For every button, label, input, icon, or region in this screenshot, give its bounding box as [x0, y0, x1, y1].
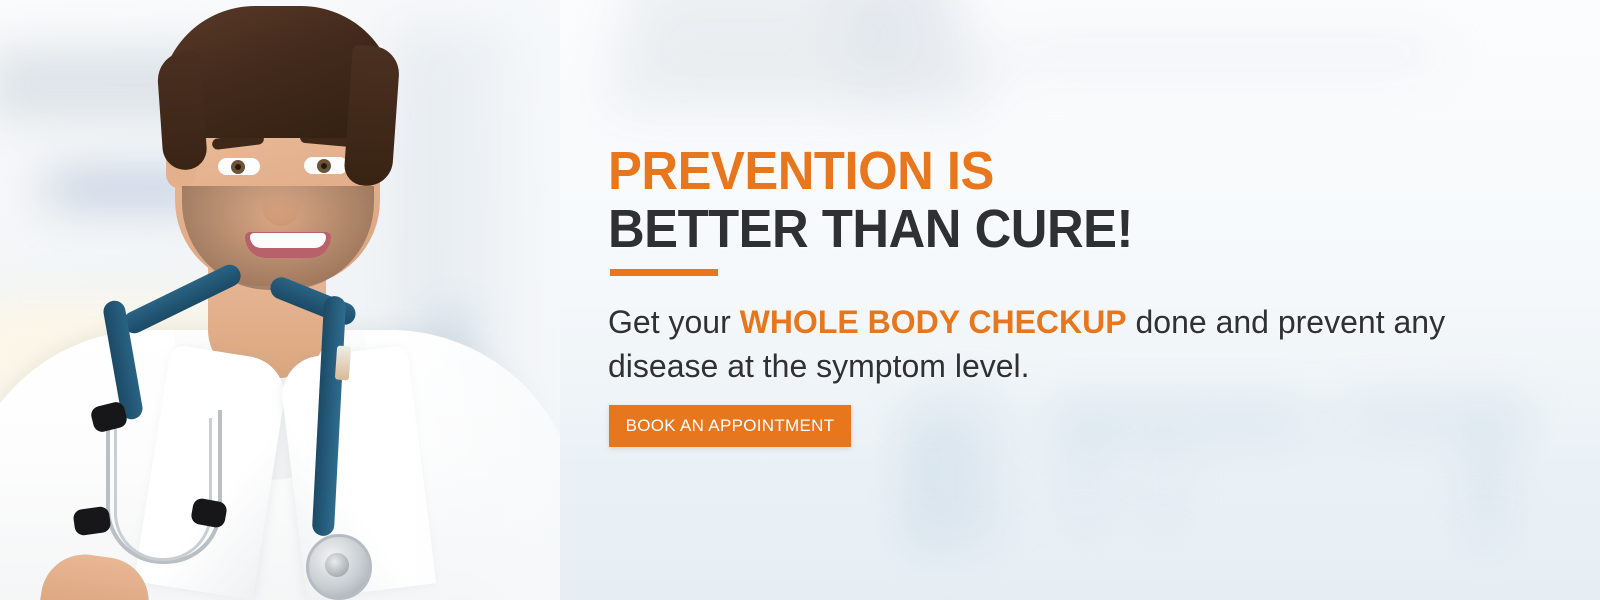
stethoscope-tube-left-upper: [120, 261, 245, 337]
doctor-photo: [0, 0, 560, 600]
headline-line-2: BETTER THAN CURE!: [608, 200, 1454, 258]
stethoscope-tube-right-upper: [267, 274, 359, 328]
stethoscope-chestpiece: [306, 534, 372, 600]
coat-pocket-pen: [335, 346, 351, 381]
banner-content: PREVENTION IS BETTER THAN CURE! Get your…: [608, 0, 1568, 600]
stethoscope-tube-right: [312, 296, 347, 537]
stethoscope-metal-arc-inner: [114, 418, 212, 561]
subtitle-highlight: WHOLE BODY CHECKUP: [740, 304, 1127, 340]
photo-edge-fade: [400, 0, 560, 600]
promo-banner: PREVENTION IS BETTER THAN CURE! Get your…: [0, 0, 1600, 600]
subtitle-text-before: Get your: [608, 304, 740, 340]
book-appointment-button[interactable]: BOOK AN APPOINTMENT: [609, 405, 851, 447]
banner-subtitle: Get your WHOLE BODY CHECKUP done and pre…: [608, 300, 1518, 388]
banner-headline: PREVENTION IS BETTER THAN CURE!: [608, 142, 1508, 258]
orange-divider: [610, 269, 718, 276]
stethoscope-earpiece-left: [72, 506, 111, 537]
headline-line-1: PREVENTION IS: [608, 142, 1454, 200]
